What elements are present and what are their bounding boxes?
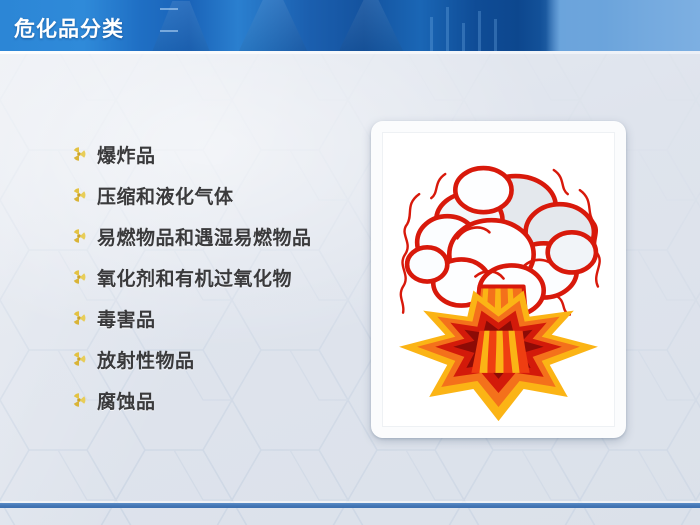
list-item[interactable]: 压缩和液化气体 <box>70 175 370 215</box>
list-item-label: 毒害品 <box>97 305 156 332</box>
slide-header: 危化品分类 <box>0 0 700 51</box>
flask-icon <box>336 0 406 51</box>
list-item-label: 氧化剂和有机过氧化物 <box>97 264 292 291</box>
graduation-mark <box>160 30 178 32</box>
rack-bar <box>494 19 497 51</box>
radiation-trefoil-icon <box>70 227 88 245</box>
list-item[interactable]: 腐蚀品 <box>70 380 370 420</box>
rack-bar <box>478 11 481 51</box>
hazard-category-list: 爆炸品 压缩和液化气体 易燃物品和遇湿易燃物品 <box>70 134 370 421</box>
radiation-trefoil-icon <box>70 391 88 409</box>
header-underline <box>0 51 700 54</box>
list-item-label: 压缩和液化气体 <box>97 182 234 209</box>
footer-accent-bar <box>0 503 700 508</box>
slide-canvas: 危化品分类 爆炸品 压缩和液化气体 <box>0 0 700 525</box>
list-item-label: 爆炸品 <box>97 141 156 168</box>
radiation-trefoil-icon <box>70 350 88 368</box>
radiation-trefoil-icon <box>70 309 88 327</box>
explosion-mushroom-cloud-illustration <box>383 133 614 426</box>
list-item-label: 易燃物品和遇湿易燃物品 <box>97 223 312 250</box>
list-item[interactable]: 毒害品 <box>70 298 370 338</box>
radiation-trefoil-icon <box>70 268 88 286</box>
header-right-panel <box>540 0 700 51</box>
list-item-label: 腐蚀品 <box>97 387 156 414</box>
list-item[interactable]: 易燃物品和遇湿易燃物品 <box>70 216 370 256</box>
rack-bar <box>430 17 433 51</box>
radiation-trefoil-icon <box>70 145 88 163</box>
list-item[interactable]: 放射性物品 <box>70 339 370 379</box>
rack-bar <box>446 7 449 51</box>
graduation-mark <box>160 8 178 10</box>
flask-icon <box>236 0 310 51</box>
radiation-trefoil-icon <box>70 186 88 204</box>
page-title: 危化品分类 <box>14 13 124 43</box>
rack-bar <box>462 23 465 51</box>
list-item[interactable]: 爆炸品 <box>70 134 370 174</box>
list-item[interactable]: 氧化剂和有机过氧化物 <box>70 257 370 297</box>
illustration-frame <box>382 132 615 427</box>
list-item-label: 放射性物品 <box>97 346 195 373</box>
illustration-card <box>371 121 626 438</box>
